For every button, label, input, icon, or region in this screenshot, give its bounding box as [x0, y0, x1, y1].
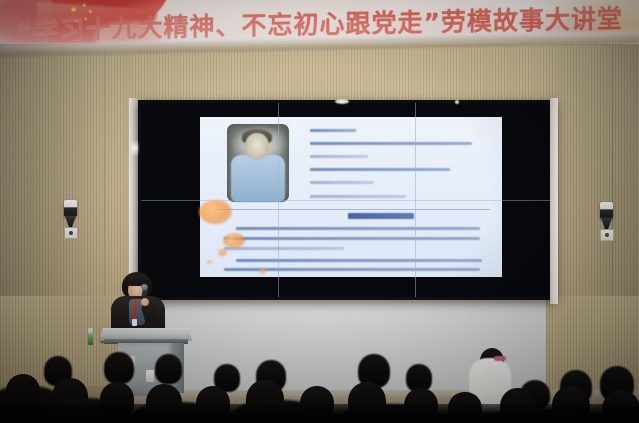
foreground-shadow: [0, 404, 639, 423]
screen-bezel-right: [550, 98, 558, 304]
slide-info-line: [310, 168, 450, 171]
presentation-slide: [200, 117, 502, 277]
slide-portrait-photo: [227, 124, 289, 202]
presenter-hand: [141, 298, 149, 306]
slide-info-line: [310, 195, 406, 198]
video-wall-display: [141, 103, 553, 297]
camera-sensor-icon: [335, 99, 349, 104]
speaker-body: [600, 202, 613, 219]
indicator-dot-icon: [455, 100, 459, 104]
slide-info-line: [310, 129, 356, 132]
speaker-body: [64, 200, 77, 217]
slide-portrait-shirt: [231, 155, 285, 202]
slide-body-line: [224, 268, 480, 271]
water-bottle: [88, 331, 93, 345]
wall-control-plate[interactable]: [64, 227, 78, 239]
slide-body-line: [224, 237, 480, 240]
microphone-head: [141, 284, 148, 290]
video-wall: [138, 100, 556, 300]
slide-portrait-face: [245, 133, 269, 160]
slide-info-line: [310, 142, 472, 145]
bezel-specular-highlight: [131, 140, 138, 156]
presenter-badge: [132, 319, 137, 326]
slide-section-heading: [348, 213, 414, 219]
lectern-side-panel: [172, 343, 184, 393]
slide-body-line: [224, 247, 344, 250]
slide-body-line: [236, 259, 482, 262]
lectern-body: [118, 343, 174, 396]
wall-control-plate[interactable]: [600, 229, 614, 241]
slide-divider: [214, 209, 490, 210]
slide-info-line: [310, 181, 374, 184]
slide-info-line: [310, 155, 368, 158]
lectern-emblem: [126, 356, 135, 366]
video-wall-seam: [141, 200, 553, 201]
lecture-hall-photo: ★ ★ ★ ★ ★ “学习十九大精神、不忘初心跟党走”劳模故事大讲堂: [0, 0, 639, 423]
slide-body-line: [236, 227, 480, 230]
presenter-at-podium: [105, 272, 171, 334]
lectern: [100, 328, 192, 396]
wall-right-lower: [546, 296, 639, 396]
